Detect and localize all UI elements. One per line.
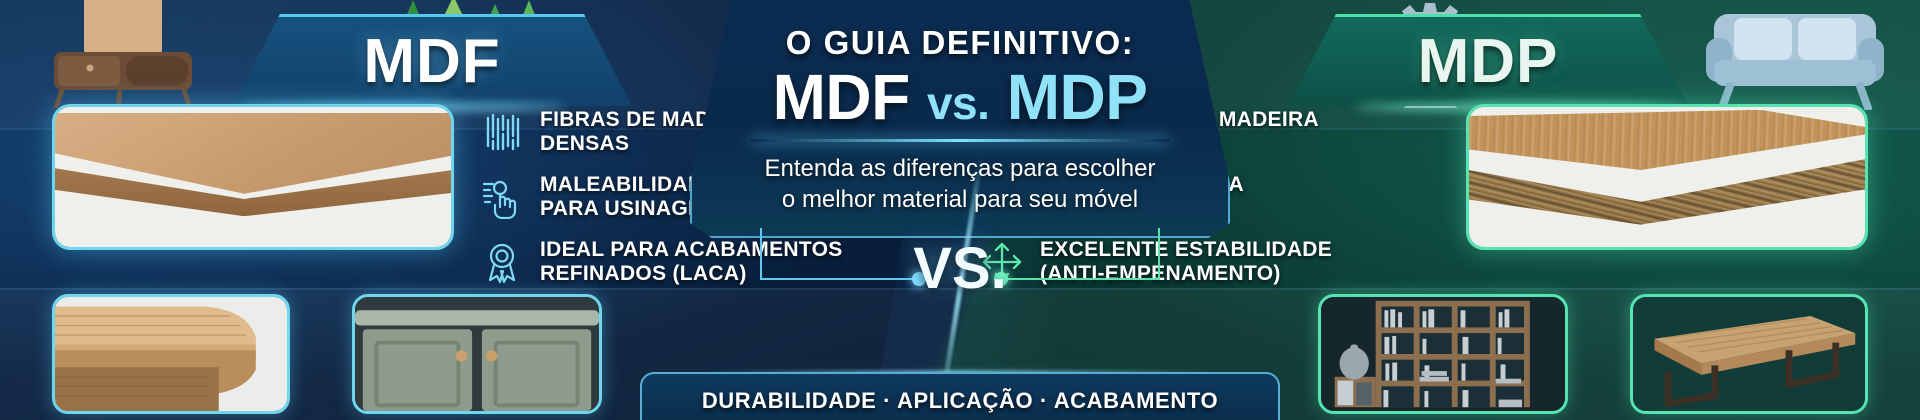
mdf-title: MDF: [363, 31, 500, 93]
page-subheadline: Entenda as diferenças para escolher o me…: [692, 154, 1228, 215]
connector-line-right: [1000, 278, 1160, 280]
mdp-title-plaque: MDP: [1288, 14, 1688, 106]
infographic-banner: MDF MDP FIBRAS DE MADEIRA DENSAS: [0, 0, 1920, 420]
versus-title: MDF vs. MDP: [692, 64, 1228, 131]
connector-riser-left: [760, 228, 762, 278]
mdp-board-sample-image: [1466, 104, 1868, 250]
center-title-panel: O GUIA DEFINITIVO: MDF vs. MDP Entenda a…: [690, 0, 1230, 238]
sofa-illustration: [1700, 2, 1890, 110]
versus-badge-label: VS.: [913, 240, 1007, 298]
center-title-content: O GUIA DEFINITIVO: MDF vs. MDP Entenda a…: [692, 0, 1228, 236]
sideboard-illustration: [28, 0, 218, 108]
versus-word-vs: vs.: [927, 77, 989, 129]
versus-word-mdf: MDF: [773, 61, 910, 133]
bookshelf-thumb: [1318, 294, 1568, 414]
connector-riser-right: [1158, 228, 1160, 278]
page-headline: O GUIA DEFINITIVO:: [692, 24, 1228, 62]
tagline-text: DURABILIDADE · APLICAÇÃO · ACABAMENTO: [702, 388, 1218, 414]
wood-table-thumb: [1630, 294, 1868, 414]
tagline-bar: DURABILIDADE · APLICAÇÃO · ACABAMENTO: [640, 372, 1280, 420]
wood-fibers-icon: [480, 110, 524, 154]
center-divider-glow: [750, 139, 1170, 142]
versus-word-mdp: MDP: [1007, 61, 1148, 133]
mdf-title-plaque: MDF: [232, 14, 632, 106]
mdp-title: MDP: [1418, 31, 1559, 93]
painted-cabinet-doors-thumb: [352, 294, 602, 414]
hand-tap-icon: [480, 175, 524, 219]
connector-line-left: [760, 278, 920, 280]
mdf-board-sample-image: [52, 104, 454, 250]
rounded-table-edge-thumb: [52, 294, 290, 414]
